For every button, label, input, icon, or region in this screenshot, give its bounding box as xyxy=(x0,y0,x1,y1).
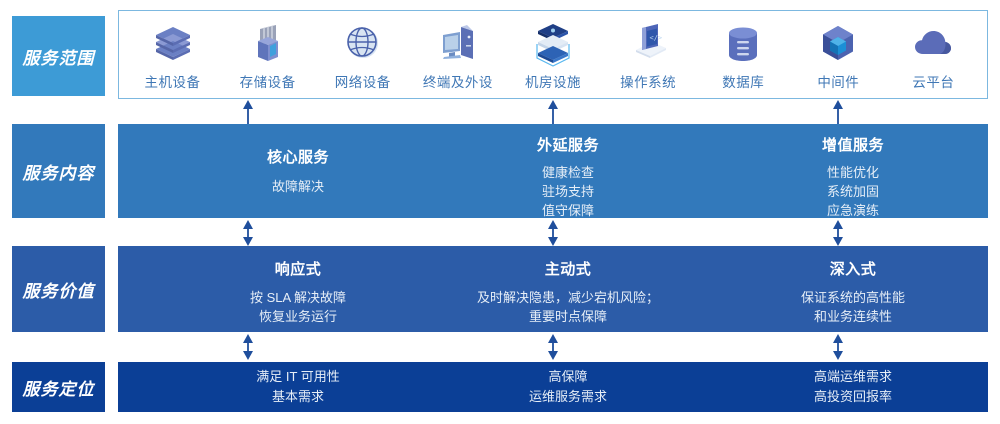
scope-item-network-equipment[interactable]: 网络设备 xyxy=(315,19,410,91)
column-title: 深入式 xyxy=(830,258,877,279)
server-stack-icon xyxy=(150,19,196,69)
data-center-icon xyxy=(529,19,577,69)
column-line: 满足 IT 可用性 xyxy=(256,367,340,387)
column-line: 保证系统的高性能 xyxy=(801,288,905,307)
column-line: 性能优化 xyxy=(827,163,879,182)
column-line: 系统加固 xyxy=(827,182,879,201)
value-column-indepth[interactable]: 深入式 保证系统的高性能 和业务连续性 xyxy=(728,246,978,332)
positioning-column-basic[interactable]: 满足 IT 可用性 基本需求 xyxy=(158,362,438,412)
column-line: 驻场支持 xyxy=(542,182,594,201)
service-framework-diagram: 服务范围 xyxy=(0,0,1000,424)
arrow-content-to-value-3 xyxy=(830,220,846,246)
column-line: 运维服务需求 xyxy=(529,387,607,407)
laptop-code-icon: </> xyxy=(624,19,672,69)
column-title: 增值服务 xyxy=(822,134,884,155)
column-line: 应急演练 xyxy=(827,201,879,220)
storage-array-icon xyxy=(245,19,291,69)
cube-middleware-icon xyxy=(815,19,861,69)
icon-strip: 主机设备 存储设备 xyxy=(119,11,987,98)
column-line: 及时解决隐患，减少宕机风险； xyxy=(477,288,659,307)
arrow-value-to-position-2 xyxy=(545,334,561,360)
scope-item-label: 操作系统 xyxy=(620,71,676,91)
scope-item-label: 网络设备 xyxy=(335,71,391,91)
column-line: 基本需求 xyxy=(272,387,324,407)
scope-item-operating-system[interactable]: </> 操作系统 xyxy=(601,19,696,91)
column-line: 恢复业务运行 xyxy=(259,307,337,326)
scope-item-cloud-platform[interactable]: 云平台 xyxy=(886,19,981,91)
positioning-column-high-assurance[interactable]: 高保障 运维服务需求 xyxy=(423,362,713,412)
column-line: 重要时点保障 xyxy=(529,307,607,326)
content-column-value-added-service[interactable]: 增值服务 性能优化 系统加固 应急演练 xyxy=(728,124,978,218)
column-line: 故障解决 xyxy=(272,177,324,196)
scope-item-label: 终端及外设 xyxy=(423,71,493,91)
positioning-column-high-end[interactable]: 高端运维需求 高投资回报率 xyxy=(728,362,978,412)
arrow-value-to-position-1 xyxy=(240,334,256,360)
svg-text:</>: </> xyxy=(650,34,663,42)
arrow-scope-to-content-1 xyxy=(240,100,256,124)
scope-item-data-center-facility[interactable]: 机房设施 xyxy=(505,19,600,91)
row-label-text: 服务范围 xyxy=(23,44,95,69)
column-line: 高端运维需求 xyxy=(814,367,892,387)
cloud-icon xyxy=(909,19,957,69)
row-label-text: 服务价值 xyxy=(23,277,95,302)
row-label-service-positioning: 服务定位 xyxy=(12,362,105,412)
arrow-content-to-value-2 xyxy=(545,220,561,246)
scope-item-database[interactable]: 数据库 xyxy=(696,19,791,91)
row-label-text: 服务内容 xyxy=(23,159,95,184)
row-label-service-content: 服务内容 xyxy=(12,124,105,218)
database-cylinder-icon xyxy=(720,19,766,69)
column-title: 外延服务 xyxy=(537,134,599,155)
column-line: 和业务连续性 xyxy=(814,307,892,326)
content-column-core-service[interactable]: 核心服务 故障解决 xyxy=(158,124,438,218)
value-columns: 响应式 按 SLA 解决故障 恢复业务运行 主动式 及时解决隐患，减少宕机风险；… xyxy=(118,246,988,332)
content-columns: 核心服务 故障解决 外延服务 健康检查 驻场支持 值守保障 增值服务 性能优化 … xyxy=(118,124,988,218)
arrow-content-to-value-1 xyxy=(240,220,256,246)
column-line: 健康检查 xyxy=(542,163,594,182)
column-title: 核心服务 xyxy=(267,146,329,167)
positioning-columns: 满足 IT 可用性 基本需求 高保障 运维服务需求 高端运维需求 高投资回报率 xyxy=(118,362,988,412)
scope-item-terminal-peripherals[interactable]: 终端及外设 xyxy=(410,19,505,91)
scope-item-label: 云平台 xyxy=(912,71,954,91)
panel-service-positioning: 满足 IT 可用性 基本需求 高保障 运维服务需求 高端运维需求 高投资回报率 xyxy=(118,362,988,412)
column-title: 主动式 xyxy=(545,258,592,279)
row-label-service-value: 服务价值 xyxy=(12,246,105,332)
arrow-scope-to-content-2 xyxy=(545,100,561,124)
panel-service-value: 响应式 按 SLA 解决故障 恢复业务运行 主动式 及时解决隐患，减少宕机风险；… xyxy=(118,246,988,332)
desktop-pc-icon xyxy=(435,19,481,69)
scope-item-label: 机房设施 xyxy=(525,71,581,91)
column-line: 值守保障 xyxy=(542,201,594,220)
scope-item-label: 主机设备 xyxy=(145,71,201,91)
row-label-text: 服务定位 xyxy=(23,375,95,400)
column-title: 响应式 xyxy=(275,258,322,279)
panel-service-content: 核心服务 故障解决 外延服务 健康检查 驻场支持 值守保障 增值服务 性能优化 … xyxy=(118,124,988,218)
scope-item-label: 中间件 xyxy=(817,71,859,91)
value-column-responsive[interactable]: 响应式 按 SLA 解决故障 恢复业务运行 xyxy=(158,246,438,332)
content-column-extended-service[interactable]: 外延服务 健康检查 驻场支持 值守保障 xyxy=(423,124,713,218)
value-column-proactive[interactable]: 主动式 及时解决隐患，减少宕机风险； 重要时点保障 xyxy=(423,246,713,332)
arrow-value-to-position-3 xyxy=(830,334,846,360)
column-line: 按 SLA 解决故障 xyxy=(250,288,346,307)
row-label-service-scope: 服务范围 xyxy=(12,16,105,96)
scope-item-storage-equipment[interactable]: 存储设备 xyxy=(220,19,315,91)
arrow-scope-to-content-3 xyxy=(830,100,846,124)
globe-network-icon xyxy=(340,19,386,69)
scope-item-label: 存储设备 xyxy=(240,71,296,91)
panel-service-scope: 主机设备 存储设备 xyxy=(118,10,988,99)
scope-item-middleware[interactable]: 中间件 xyxy=(791,19,886,91)
column-line: 高保障 xyxy=(548,367,587,387)
column-line: 高投资回报率 xyxy=(814,387,892,407)
scope-item-label: 数据库 xyxy=(722,71,764,91)
scope-item-host-equipment[interactable]: 主机设备 xyxy=(125,19,220,91)
